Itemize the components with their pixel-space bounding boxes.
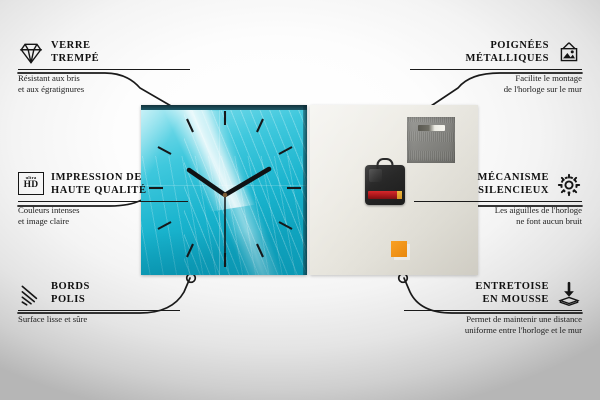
feature-title-line1: IMPRESSION DE — [51, 172, 142, 183]
feature-desc-line1: Résistant aux bris — [18, 73, 80, 83]
feature-desc-line1: Surface lisse et sûre — [18, 314, 87, 324]
feature-verre-trempe: VERRE TREMPÉ Résistant aux bris et aux é… — [18, 40, 208, 95]
label-divider — [410, 69, 582, 70]
foam-spacer-arrow-icon — [556, 281, 582, 307]
feature-title-line2: MÉTALLIQUES — [466, 53, 549, 64]
feature-bords-polis: BORDS POLIS Surface lisse et sûre — [18, 281, 208, 325]
ultra-hd-badge-icon: ultra HD — [18, 172, 44, 198]
label-divider — [18, 69, 190, 70]
label-divider — [404, 310, 582, 311]
feature-title-line2: POLIS — [51, 294, 85, 305]
feature-title-line1: ENTRETOISE — [475, 281, 549, 292]
feature-title-line1: POIGNÉES — [490, 40, 549, 51]
gear-icon — [556, 172, 582, 198]
feature-poignees-metalliques: POIGNÉES MÉTALLIQUES Facilite le montage… — [392, 40, 582, 95]
feature-title-line1: MÉCANISME — [478, 172, 549, 183]
feature-impression-haute-qualite: ultra HD IMPRESSION DE HAUTE QUALITÉ Cou… — [18, 172, 208, 227]
feature-entretoise-en-mousse: ENTRETOISE EN MOUSSE Permet de maintenir… — [392, 281, 582, 336]
feature-title-line2: TREMPÉ — [51, 53, 99, 64]
feature-desc-line2: uniforme entre l'horloge et le mur — [465, 325, 582, 335]
label-divider — [414, 201, 582, 202]
feature-desc-line1: Les aiguilles de l'horloge — [495, 205, 582, 215]
feature-mecanisme-silencieux: MÉCANISME SILENCIEUX Les aiguilles de l'… — [392, 172, 582, 227]
polished-edge-lines-icon — [18, 281, 44, 307]
feature-title-line2: HAUTE QUALITÉ — [51, 185, 147, 196]
label-divider — [18, 201, 188, 202]
feature-title-line2: SILENCIEUX — [478, 185, 549, 196]
feature-desc-line2: de l'horloge sur le mur — [504, 84, 582, 94]
hd-badge-main-text: HD — [24, 181, 39, 191]
picture-hanger-icon — [556, 40, 582, 66]
feature-desc-line1: Couleurs intenses — [18, 205, 80, 215]
feature-desc-line2: et aux égratignures — [18, 84, 84, 94]
label-divider — [18, 310, 180, 311]
infographic-canvas: VERRE TREMPÉ Résistant aux bris et aux é… — [0, 0, 600, 400]
diamond-icon — [18, 40, 44, 66]
feature-desc-line2: et image claire — [18, 216, 69, 226]
clock-minute-hand — [225, 169, 269, 195]
feature-desc-line1: Facilite le montage — [515, 73, 582, 83]
feature-title-line1: BORDS — [51, 281, 90, 292]
feature-title-line2: EN MOUSSE — [482, 294, 549, 305]
feature-title-line1: VERRE — [51, 40, 91, 51]
feature-desc-line2: ne font aucun bruit — [516, 216, 582, 226]
feature-desc-line1: Permet de maintenir une distance — [466, 314, 582, 324]
clock-center-cap — [223, 193, 228, 198]
